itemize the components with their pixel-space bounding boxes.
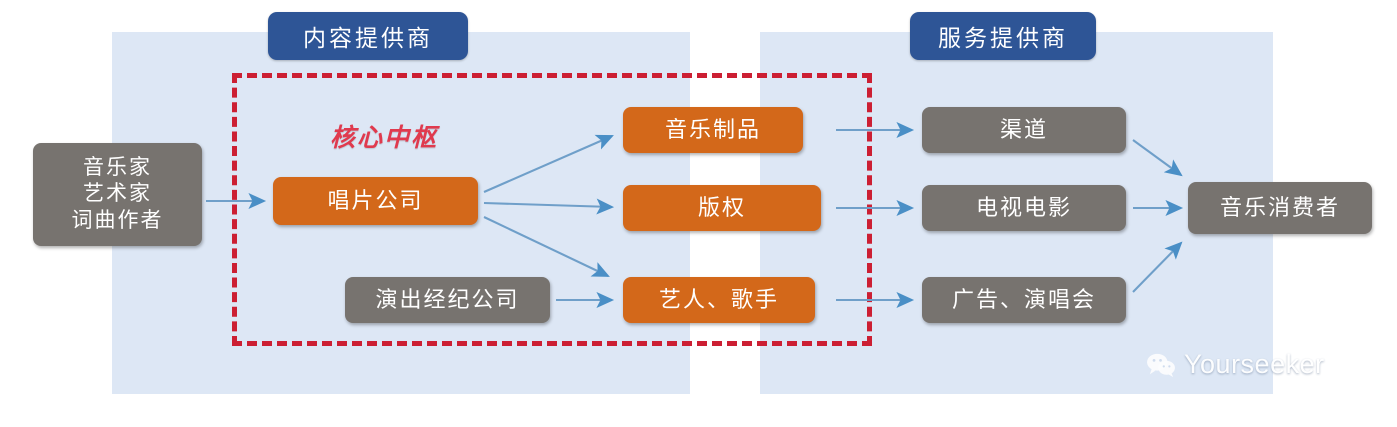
node-channel: 渠道 <box>922 107 1126 153</box>
node-creators-line-2: 艺术家 <box>83 181 152 207</box>
watermark-text: Yourseeker <box>1184 349 1325 380</box>
wechat-icon <box>1146 352 1176 378</box>
node-music-products: 音乐制品 <box>623 107 803 153</box>
node-label-company: 唱片公司 <box>273 177 478 225</box>
node-artists-singers: 艺人、歌手 <box>623 277 815 323</box>
service-provider-header: 服务提供商 <box>910 12 1096 60</box>
node-music-consumer: 音乐消费者 <box>1188 182 1372 234</box>
diagram-canvas: 内容提供商 服务提供商 核心中枢 <box>0 0 1397 427</box>
node-ads-concerts: 广告、演唱会 <box>922 277 1126 323</box>
node-tv-film: 电视电影 <box>922 185 1126 231</box>
node-copyright: 版权 <box>623 185 821 231</box>
content-provider-header: 内容提供商 <box>268 12 468 60</box>
node-performance-agency: 演出经纪公司 <box>345 277 550 323</box>
node-creators-line-3: 词曲作者 <box>72 208 164 234</box>
node-creators: 音乐家 艺术家 词曲作者 <box>33 143 202 246</box>
node-creators-line-1: 音乐家 <box>83 155 152 181</box>
core-hub-label: 核心中枢 <box>330 118 438 154</box>
watermark: Yourseeker <box>1146 349 1325 380</box>
